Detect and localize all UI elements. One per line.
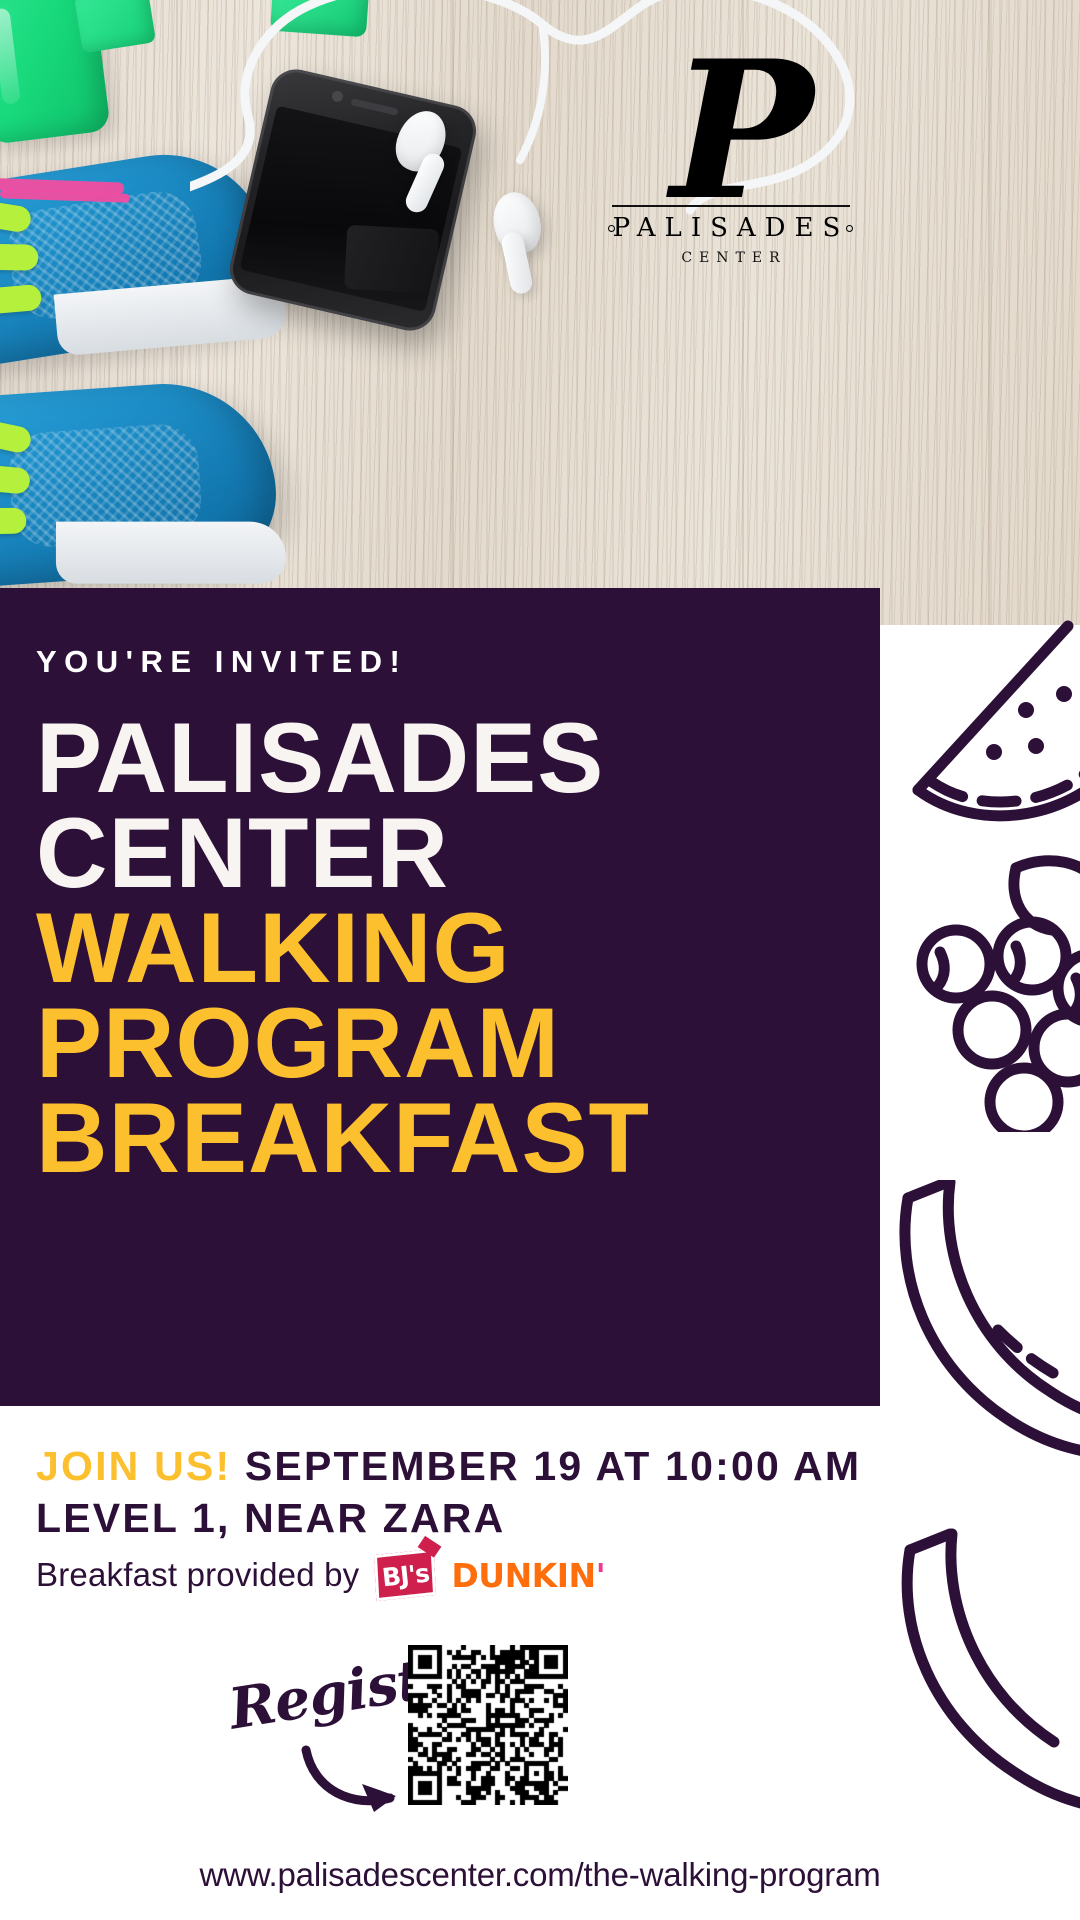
bjs-logo-text: BJ's (381, 1558, 431, 1592)
fruit-doodles (880, 620, 1080, 1920)
provided-by-label: Breakfast provided by (36, 1556, 359, 1594)
dunkin-logo: DUNKIN' (451, 1556, 605, 1595)
footer-url[interactable]: www.palisadescenter.com/the-walking-prog… (0, 1856, 1080, 1894)
bottle-highlight (0, 8, 21, 105)
shoe-lace (0, 402, 33, 454)
running-shoe-icon (0, 376, 281, 593)
watermelon-slice-icon (898, 620, 1080, 850)
bottle-cap-icon (74, 0, 156, 53)
join-us-label: JOIN US! (36, 1443, 231, 1489)
logo-subtext: CENTER (600, 250, 868, 266)
qr-code[interactable] (408, 1645, 568, 1805)
hero-photo (0, 0, 1080, 625)
logo-monogram: P (610, 36, 870, 226)
grapes-icon (896, 852, 1080, 1132)
headline-line-2: CENTER (36, 805, 880, 900)
logo-wordmark: PALISADES (600, 213, 862, 243)
shoe-sole (56, 522, 286, 584)
invite-kicker: YOU'RE INVITED! (36, 644, 880, 680)
sponsor-row: Breakfast provided by BJ's DUNKIN' (36, 1552, 605, 1598)
banana-icon (886, 1520, 1080, 1820)
bjs-logo: BJ's (374, 1549, 436, 1601)
event-datetime: SEPTEMBER 19 AT 10:00 AM (245, 1443, 861, 1489)
dunkin-logo-apostrophe: ' (596, 1556, 606, 1595)
event-location: LEVEL 1, NEAR ZARA (36, 1492, 936, 1544)
event-details: JOIN US! SEPTEMBER 19 AT 10:00 AM LEVEL … (36, 1440, 936, 1545)
shoe-lace (0, 284, 42, 323)
headline-line-4: PROGRAM (36, 995, 880, 1090)
qr-code-canvas[interactable] (408, 1645, 568, 1805)
headline-line-5: BREAKFAST (36, 1090, 880, 1185)
shoe-lace (0, 242, 38, 270)
headline-line-1: PALISADES (36, 710, 880, 805)
curved-arrow-icon (300, 1742, 410, 1822)
logo-divider (612, 205, 850, 207)
dunkin-logo-text: DUNKIN (451, 1556, 595, 1595)
headline-block: YOU'RE INVITED! PALISADES CENTER WALKING… (0, 588, 880, 1406)
event-datetime-line: JOIN US! SEPTEMBER 19 AT 10:00 AM (36, 1440, 936, 1492)
wood-seam (988, 0, 990, 625)
headline-line-3: WALKING (36, 900, 880, 995)
palisades-center-logo: P PALISADES CENTER (600, 50, 870, 260)
